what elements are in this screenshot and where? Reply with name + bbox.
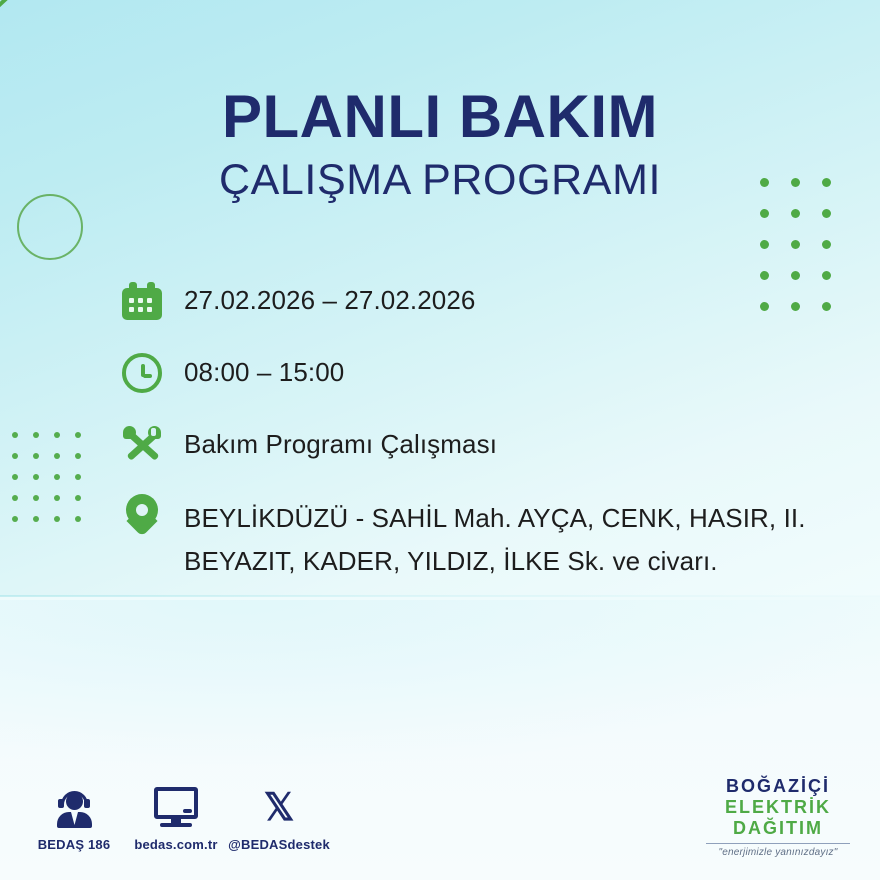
calendar-icon [118,276,168,326]
location-text: BEYLİKDÜZÜ - SAHİL Mah. AYÇA, CENK, HASI… [184,492,838,583]
grid-dot [12,453,18,459]
x-social-icon: 𝕏 [219,784,339,832]
background-sheen [0,600,880,770]
planned-maintenance-poster: PLANLI BAKIM ÇALIŞMA PROGRAMI 27.02.2026… [0,0,880,880]
grid-dot [12,474,18,480]
grid-dot [33,516,39,522]
footer-contact-social[interactable]: 𝕏 @BEDASdestek [219,784,339,852]
grid-dot [822,209,831,218]
detail-row-time: 08:00 – 15:00 [118,348,838,398]
grid-dot [33,453,39,459]
footer-social-label: @BEDASdestek [219,837,339,852]
brand-line-1: BOĞAZİÇİ [694,776,862,797]
grid-dot [75,474,81,480]
work-type-text: Bakım Programı Çalışması [184,420,497,463]
maintenance-details: 27.02.2026 – 27.02.2026 08:00 – 15:00 Ba… [118,276,838,605]
grid-dot [75,432,81,438]
grid-dot [760,240,769,249]
brand-line-2: ELEKTRİK [694,797,862,818]
location-pin-icon [118,492,168,542]
clock-icon [118,348,168,398]
grid-dot [12,495,18,501]
title-line-1: PLANLI BAKIM [0,86,880,148]
grid-dot [12,516,18,522]
grid-dot [75,516,81,522]
dot-grid-left-decoration [12,432,96,537]
grid-dot [33,432,39,438]
brand-line-3: DAĞITIM [694,818,862,839]
grid-dot [822,240,831,249]
grid-dot [760,209,769,218]
footer-contact-website[interactable]: bedas.com.tr [116,784,236,852]
grid-dot [54,432,60,438]
page-title: PLANLI BAKIM ÇALIŞMA PROGRAMI [0,86,880,208]
title-line-2: ÇALIŞMA PROGRAMI [0,148,880,208]
detail-row-date: 27.02.2026 – 27.02.2026 [118,276,838,326]
grid-dot [54,495,60,501]
monitor-icon [116,784,236,832]
detail-row-work-type: Bakım Programı Çalışması [118,420,838,470]
grid-dot [12,432,18,438]
detail-row-location: BEYLİKDÜZÜ - SAHİL Mah. AYÇA, CENK, HASI… [118,492,838,583]
time-range-text: 08:00 – 15:00 [184,348,344,391]
grid-dot [54,516,60,522]
grid-dot [75,453,81,459]
grid-dot [33,495,39,501]
date-range-text: 27.02.2026 – 27.02.2026 [184,276,475,319]
tools-icon [118,420,168,470]
bedas-logo: BOĞAZİÇİ ELEKTRİK DAĞITIM "enerjimizle y… [694,776,862,858]
brand-divider [706,843,850,844]
grid-dot [75,495,81,501]
footer-website-label: bedas.com.tr [116,837,236,852]
grid-dot [791,240,800,249]
grid-dot [54,453,60,459]
grid-dot [33,474,39,480]
grid-dot [791,209,800,218]
grid-dot [54,474,60,480]
brand-slogan: "enerjimizle yanınızdayız" [694,847,862,858]
